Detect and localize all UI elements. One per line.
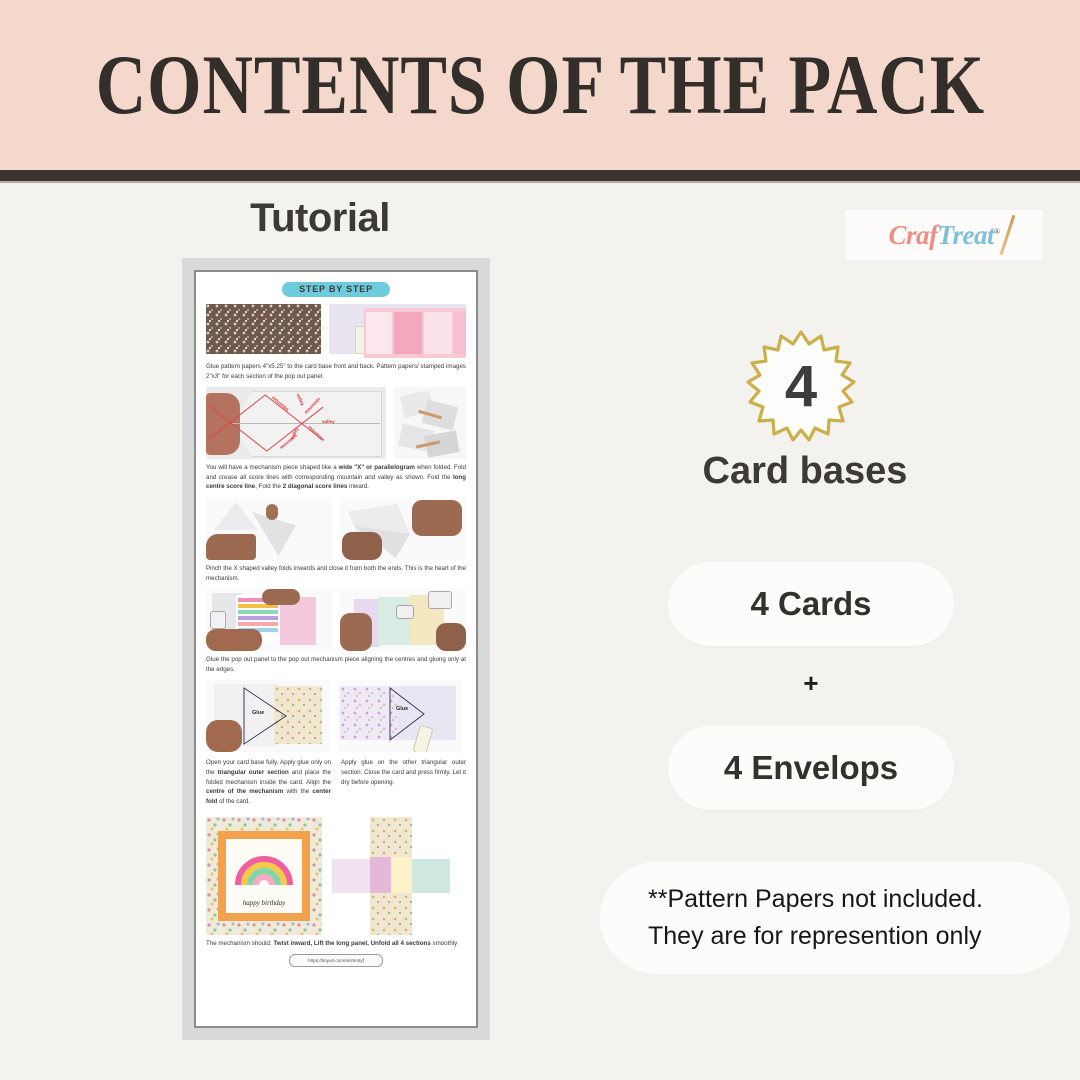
step5-caption-right: Apply glue on the other triangular outer… [341, 758, 466, 806]
step2-images: mountain valley mountain mountain valley… [206, 387, 466, 459]
rainbow-illustration [234, 847, 294, 887]
fold-diagram: mountain valley mountain mountain valley… [206, 387, 386, 459]
pattern-paper-image [206, 304, 321, 354]
brand-logo-text: CrafTreat® [889, 220, 1000, 251]
header-divider [0, 170, 1080, 181]
badge-number: 4 [745, 330, 857, 442]
card-bases-badge: 4 [745, 330, 857, 442]
header-divider-shadow [0, 181, 1080, 183]
unfolded-mechanism-image [330, 817, 455, 935]
trademark-symbol: ® [994, 227, 999, 236]
poster-page: STEP BY STEP Glue pattern [198, 274, 474, 1024]
finished-card-image: happy birthday [206, 817, 322, 935]
step6-images: happy birthday [206, 817, 466, 935]
tutorial-section: Tutorial STEP BY STEP [150, 196, 550, 253]
disclaimer-line-1: **Pattern Papers not included. [648, 881, 1070, 919]
step3-caption: Pinch the X shaped valley folds inwards … [206, 564, 466, 583]
step2-caption: You will have a mechanism piece shaped l… [206, 463, 466, 492]
header-band: CONTENTS OF THE PACK [0, 0, 1080, 170]
brand-name-part2: Treat [938, 220, 994, 250]
page-title: CONTENTS OF THE PACK [95, 36, 984, 134]
card-bases-label: Card bases [600, 450, 1010, 493]
step-by-step-badge: STEP BY STEP [282, 282, 390, 297]
card-greeting-text: happy birthday [228, 899, 300, 907]
glue-panel-image-1 [206, 589, 332, 651]
step6-caption: The mechanism should: Twist inward, Lift… [206, 939, 466, 949]
pinch-valley-image-2 [340, 498, 466, 560]
disclaimer-note: **Pattern Papers not included. They are … [600, 862, 1070, 974]
open-card-glue-image: Glue [206, 680, 330, 752]
fold-label-valley-3: valley [322, 419, 335, 424]
tutorial-heading: Tutorial [150, 196, 490, 241]
pinch-valley-image-1 [206, 498, 332, 560]
poster-frame: STEP BY STEP Glue pattern [194, 270, 478, 1028]
plus-separator: + [668, 668, 954, 699]
pill-4-envelops[interactable]: 4 Envelops [668, 726, 954, 810]
close-card-glue-image: Glue [338, 680, 462, 752]
brand-name-part1: Craf [889, 220, 938, 250]
step5-caption-left: Open your card base fully. Apply glue on… [206, 758, 331, 806]
step5-captions: Open your card base fully. Apply glue on… [206, 756, 466, 812]
pill-4-cards[interactable]: 4 Cards [668, 562, 954, 646]
glue-panel-image-2 [340, 589, 466, 651]
folded-mechanism-image [394, 387, 466, 459]
step4-caption: Glue the pop out panel to the pop out me… [206, 655, 466, 674]
brand-logo: CrafTreat® [845, 210, 1043, 260]
disclaimer-line-2: They are for represention only [648, 918, 1070, 956]
glue-text-label-1: Glue [252, 710, 264, 716]
glue-text-label-2: Glue [396, 706, 408, 712]
tutorial-poster: STEP BY STEP Glue pattern [182, 258, 490, 1040]
step5-images: Glue Glue [206, 680, 466, 752]
step1-images-2 [364, 308, 466, 358]
step3-images [206, 498, 466, 560]
tutorial-url[interactable]: https://tinyurl.com/4e2sn5yf [289, 954, 383, 967]
step1-caption: Glue pattern papers 4"x5.25" to the card… [206, 362, 466, 381]
step4-images [206, 589, 466, 651]
paintbrush-icon [1000, 215, 1016, 256]
pop-out-panel-image [364, 308, 466, 358]
